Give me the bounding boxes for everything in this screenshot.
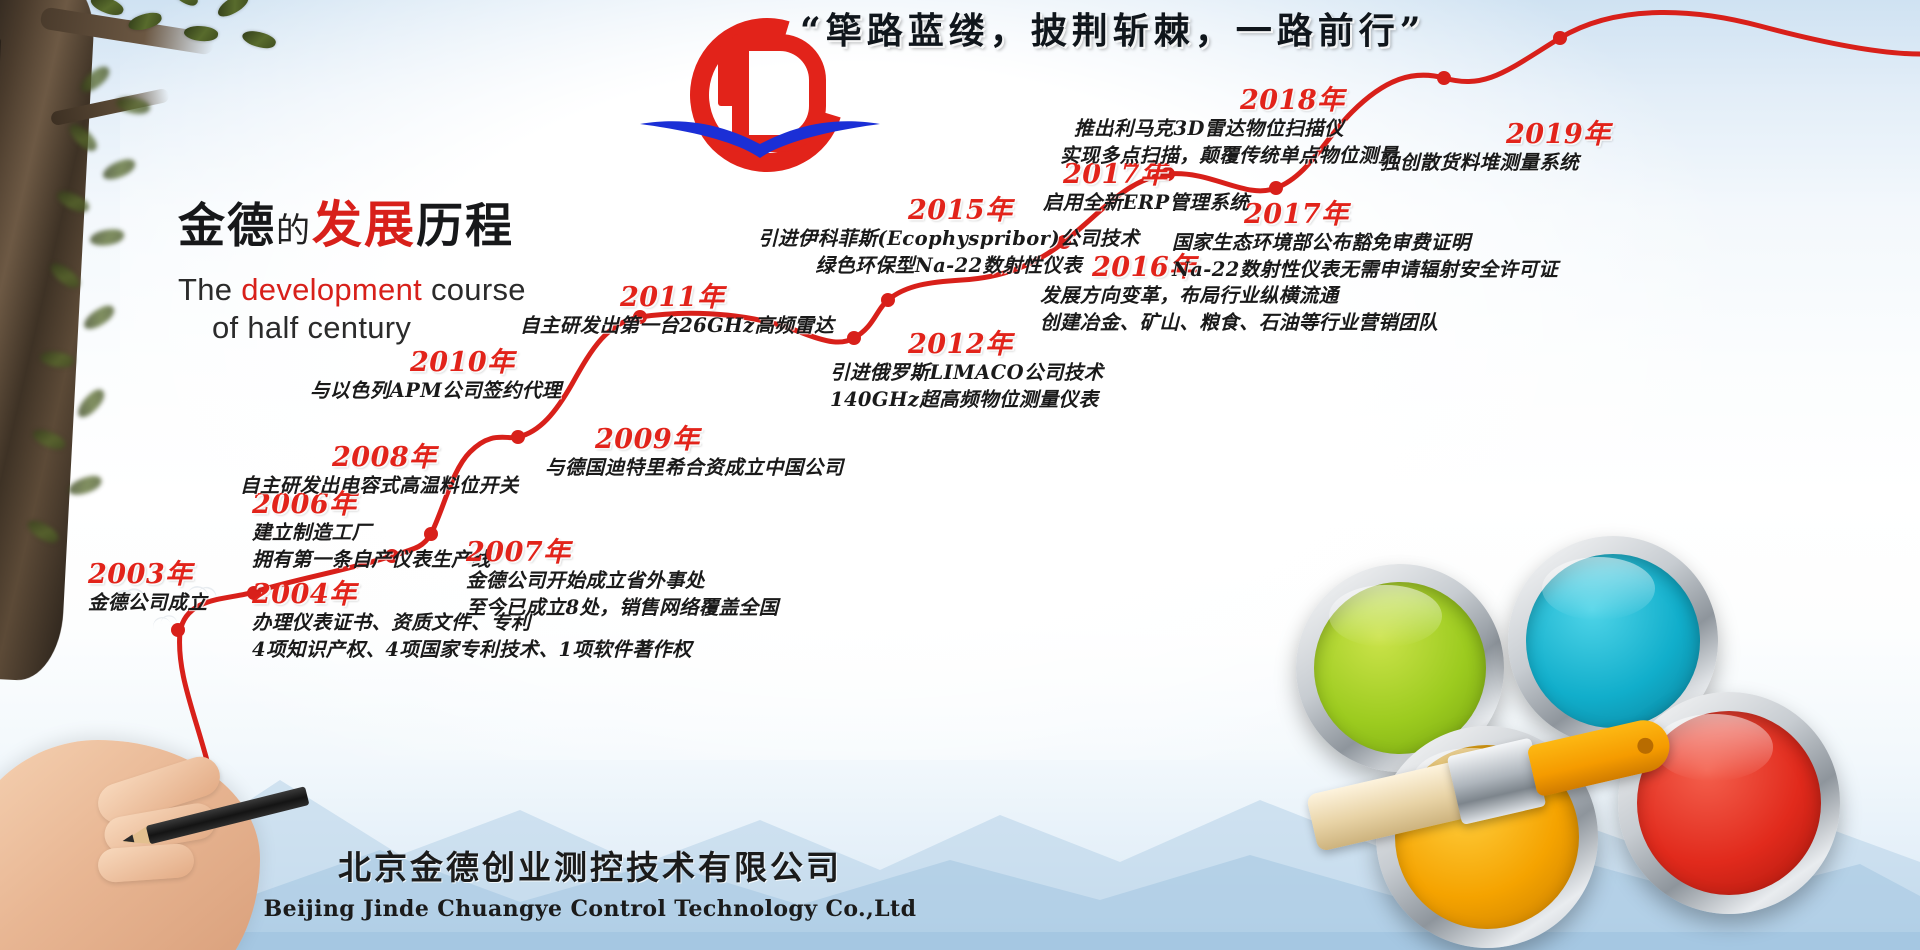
milestone-year: 2019年	[1506, 120, 1611, 150]
milestone-line: 自主研发出电容式高温料位开关	[240, 473, 519, 500]
milestone-line: 金德公司开始成立省外事处	[466, 568, 778, 595]
milestone-line: 拥有第一条自产仪表生产线	[252, 547, 491, 574]
milestone-2003: 2003年 金德公司成立	[88, 560, 207, 617]
milestone-line: 创建冶金、矿山、粮食、石油等行业营销团队	[1040, 310, 1438, 337]
milestone-year: 2007年	[466, 538, 778, 568]
title-development: 发展	[312, 195, 416, 254]
milestone-line: 引进伊科菲斯(Ecophyspribor)公司技术	[758, 226, 1140, 253]
footer-block: 北京金德创业测控技术有限公司 Beijing Jinde Chuangye Co…	[0, 841, 1180, 922]
milestone-line: 国家生态环境部公布豁免审费证明	[1172, 230, 1558, 257]
milestone-line: 金德公司成立	[88, 590, 207, 617]
subtitle-development: development	[241, 272, 422, 307]
subtitle-the: The	[178, 272, 241, 307]
logo-wave-icon	[630, 110, 890, 164]
milestone-year: 2008年	[332, 443, 519, 473]
milestone-line: 与德国迪特里希合资成立中国公司	[545, 455, 844, 482]
poster-canvas: “筚路蓝缕，披荆斩棘，一路前行” 金德的发展历程 The development…	[0, 0, 1920, 950]
milestone-year: 2017年	[1244, 200, 1558, 230]
milestone-year: 2003年	[88, 560, 207, 590]
milestone-2011: 2011年 自主研发出第一台26GHz高频雷达	[520, 283, 834, 340]
milestone-2018: 2018年 推出利马克3D雷达物位扫描仪 实现多点扫描，颠覆传统单点物位测量	[1060, 86, 1398, 170]
milestone-line: 发展方向变革，布局行业纵横流通	[1040, 283, 1438, 310]
milestone-line: 引进俄罗斯LIMACO公司技术	[830, 360, 1104, 387]
milestone-line: 独创散货料堆测量系统	[1380, 150, 1611, 177]
milestone-2007: 2007年 金德公司开始成立省外事处 至今已成立8处，销售网络覆盖全国	[466, 538, 778, 622]
milestone-year: 2010年	[410, 348, 562, 378]
company-name-cn: 北京金德创业测控技术有限公司	[0, 841, 1180, 889]
milestone-line: 至今已成立8处，销售网络覆盖全国	[466, 595, 778, 622]
title-brand: 金德	[178, 199, 276, 254]
paint-cans-decoration	[1280, 530, 1920, 950]
milestone-year: 2011年	[620, 283, 834, 313]
milestone-line: 推出利马克3D雷达物位扫描仪	[1074, 116, 1398, 143]
milestone-2006: 2006年 建立制造工厂 拥有第一条自产仪表生产线	[252, 490, 491, 574]
title-de: 的	[276, 211, 312, 251]
milestone-line: 140GHz超高频物位测量仪表	[830, 387, 1104, 414]
milestone-2017-cert: 2017年 国家生态环境部公布豁免审费证明 Na-22数射性仪表无需申请辐射安全…	[1172, 200, 1558, 284]
milestone-2009: 2009年 与德国迪特里希合资成立中国公司	[545, 425, 844, 482]
milestone-2012: 2012年 引进俄罗斯LIMACO公司技术 140GHz超高频物位测量仪表	[830, 330, 1104, 414]
top-quote: “筚路蓝缕，披荆斩棘，一路前行”	[800, 2, 1480, 54]
milestone-year: 2018年	[1240, 86, 1398, 116]
page-title-cn: 金德的发展历程	[178, 185, 738, 257]
milestone-line: Na-22数射性仪表无需申请辐射安全许可证	[1172, 257, 1558, 284]
subtitle-course: course	[422, 272, 526, 307]
company-name-en: Beijing Jinde Chuangye Control Technolog…	[0, 896, 1180, 922]
milestone-line: 建立制造工厂	[252, 520, 491, 547]
milestone-line: 实现多点扫描，颠覆传统单点物位测量	[1060, 143, 1398, 170]
milestone-2008: 2008年 自主研发出电容式高温料位开关	[240, 443, 519, 500]
milestone-line: 与以色列APM公司签约代理	[310, 378, 562, 405]
milestone-line: 自主研发出第一台26GHz高频雷达	[520, 313, 834, 340]
milestone-2010: 2010年 与以色列APM公司签约代理	[310, 348, 562, 405]
title-course: 历程	[416, 199, 514, 254]
milestone-year: 2009年	[595, 425, 844, 455]
milestone-2019: 2019年 独创散货料堆测量系统	[1380, 120, 1611, 177]
